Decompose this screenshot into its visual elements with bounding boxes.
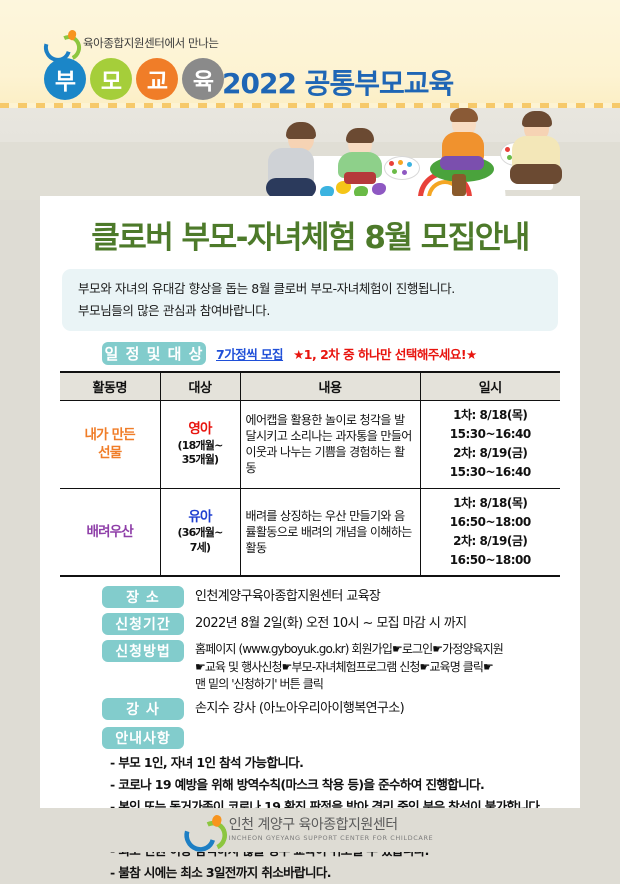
poster-root: 육아종합지원센터에서 만나는 부 모 교 육 2022 공통부모교육	[0, 0, 620, 852]
method-line-1: 홈페이지 (www.gyboyuk.go.kr) 회원가입☛로그인☛가정양육지원	[195, 642, 503, 656]
list-item: 부모 1인, 자녀 1인 참석 가능합니다.	[110, 752, 580, 774]
when-line-1: 1차: 8/18(목) 15:30~16:40	[450, 408, 531, 441]
when-line-1: 1차: 8/18(목) 16:50~18:00	[450, 496, 531, 529]
content-card: 클로버 부모-자녀체험 8월 모집안내 부모와 자녀의 유대감 향상을 돕는 8…	[40, 196, 580, 808]
circle-bu: 부	[44, 58, 86, 100]
method-value: 홈페이지 (www.gyboyuk.go.kr) 회원가입☛로그인☛가정양육지원…	[195, 640, 503, 693]
teacher-label: 강 사	[102, 698, 184, 720]
list-item: 불참 시에는 최소 3일전까지 취소바랍니다.	[110, 862, 580, 884]
list-item: 코로나 19 예방을 위해 방역수칙(마스크 착용 등)을 준수하여 진행합니다…	[110, 774, 580, 796]
intro-line-1: 부모와 자녀의 유대감 향상을 돕는 8월 클로버 부모-자녀체험이 진행됩니다…	[78, 278, 542, 300]
notice-heading: 안내사항	[102, 727, 580, 749]
cell-target: 영아 (18개월~ 35개월)	[160, 400, 240, 488]
method-line-3: 맨 밑의 '신청하기' 버튼 클릭	[195, 677, 323, 691]
cell-content: 에어캡을 활용한 놀이로 청각을 발달시키고 소리나는 과자통을 만들어 이웃과…	[240, 400, 420, 488]
col-when: 일시	[420, 372, 560, 401]
paint-palette	[384, 156, 420, 180]
target-sub-2: 35개월)	[166, 453, 235, 467]
footer-text: 인천 계양구 육아종합지원센터 INCHEON GYEYANG SUPPORT …	[229, 818, 434, 842]
info-row-place: 장 소 인천계양구육아종합지원센터 교육장	[102, 586, 580, 608]
when-line-2: 2차: 8/19(금) 16:50~18:00	[450, 534, 531, 567]
notice-label: 안내사항	[102, 727, 184, 749]
place-label: 장 소	[102, 586, 184, 608]
page-title: 클로버 부모-자녀체험 8월 모집안내	[40, 212, 580, 257]
tree-trunk	[452, 174, 466, 196]
info-row-teacher: 강 사 손지수 강사 (아노아우리아이행복연구소)	[102, 698, 580, 720]
brand-line: 육아종합지원센터에서 만나는	[44, 30, 219, 56]
family-painting-illustration	[0, 108, 620, 200]
cell-content: 배려를 상징하는 우산 만들기와 음률활동으로 배려의 개념을 이해하는 활동	[240, 488, 420, 576]
schedule-star-note: ★1, 2차 중 하나만 선택해주세요!★	[293, 344, 477, 363]
intro-line-2: 부모님들의 많은 관심과 참여바랍니다.	[78, 300, 542, 322]
table-header-row: 활동명 대상 내용 일시	[60, 372, 560, 401]
target-main: 영아	[166, 421, 235, 439]
circle-yuk: 육	[182, 58, 224, 100]
keyword-circles: 부 모 교 육	[44, 58, 224, 100]
method-line-2: ☛교육 및 행사신청☛부모-자녀체험프로그램 신청☛교육명 클릭☛	[195, 660, 493, 674]
schedule-note: 7가정씩 모집	[216, 344, 283, 363]
target-sub-1: (18개월~	[166, 439, 235, 453]
sc-logo-icon	[44, 30, 78, 56]
circle-mo: 모	[90, 58, 132, 100]
cell-target: 유아 (36개월~ 7세)	[160, 488, 240, 576]
place-value: 인천계양구육아종합지원센터 교육장	[195, 586, 380, 607]
col-activity: 활동명	[60, 372, 160, 401]
col-content: 내용	[240, 372, 420, 401]
sc-logo-icon	[184, 815, 223, 845]
cell-activity: 내가 만든선물	[60, 400, 160, 488]
target-sub-2: 7세)	[166, 541, 235, 555]
banner-title: 2022 공통부모교육	[222, 62, 453, 102]
cell-when: 1차: 8/18(목) 16:50~18:00 2차: 8/19(금) 16:5…	[420, 488, 560, 576]
program-table: 활동명 대상 내용 일시 내가 만든선물 영아 (18개월~ 35개월)	[60, 371, 560, 578]
when-line-2: 2차: 8/19(금) 15:30~16:40	[450, 446, 531, 479]
target-sub-1: (36개월~	[166, 526, 235, 540]
col-target: 대상	[160, 372, 240, 401]
table-row: 내가 만든선물 영아 (18개월~ 35개월) 에어캡을 활용한 놀이로 청각을…	[60, 400, 560, 488]
circle-gyo: 교	[136, 58, 178, 100]
top-banner: 육아종합지원센터에서 만나는 부 모 교 육 2022 공통부모교육	[0, 0, 620, 108]
period-label: 신청기간	[102, 613, 184, 635]
cell-when: 1차: 8/18(목) 15:30~16:40 2차: 8/19(금) 15:3…	[420, 400, 560, 488]
target-main: 유아	[166, 509, 235, 527]
teacher-value: 손지수 강사 (아노아우리아이행복연구소)	[195, 698, 404, 719]
method-label: 신청방법	[102, 640, 184, 662]
cell-activity: 배려우산	[60, 488, 160, 576]
table-row: 배려우산 유아 (36개월~ 7세) 배려를 상징하는 우산 만들기와 음률활동…	[60, 488, 560, 576]
footer: 인천 계양구 육아종합지원센터 INCHEON GYEYANG SUPPORT …	[0, 808, 620, 852]
info-row-method: 신청방법 홈페이지 (www.gyboyuk.go.kr) 회원가입☛로그인☛가…	[102, 640, 580, 693]
footer-name-kr: 인천 계양구 육아종합지원센터	[229, 818, 434, 832]
intro-box: 부모와 자녀의 유대감 향상을 돕는 8월 클로버 부모-자녀체험이 진행됩니다…	[62, 269, 558, 331]
schedule-label: 일 정 및 대 상	[102, 342, 206, 365]
period-value: 2022년 8월 2일(화) 오전 10시 ~ 모집 마감 시 까지	[195, 613, 466, 634]
info-row-period: 신청기간 2022년 8월 2일(화) 오전 10시 ~ 모집 마감 시 까지	[102, 613, 580, 635]
footer-name-en: INCHEON GYEYANG SUPPORT CENTER FOR CHILD…	[229, 835, 434, 842]
schedule-heading-row: 일 정 및 대 상 7가정씩 모집 ★1, 2차 중 하나만 선택해주세요!★	[102, 342, 580, 365]
brand-tagline: 육아종합지원센터에서 만나는	[83, 35, 219, 51]
